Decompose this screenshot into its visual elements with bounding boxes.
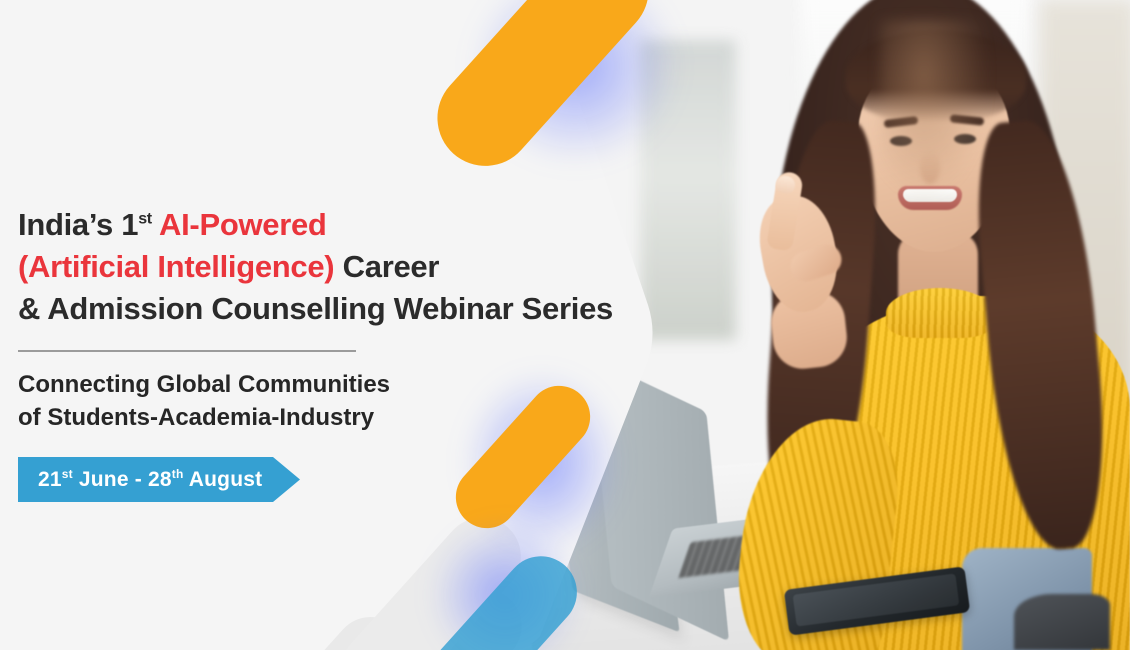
date-end-ordinal: th [172, 467, 184, 481]
date-range-label: 21st June - 28th August [18, 468, 262, 492]
subject-lap-shadow [1014, 594, 1110, 650]
date-end-day: 28 [148, 468, 172, 491]
headline-prefix: India’s 1 [18, 207, 138, 242]
subtitle-line-1: Connecting Global Communities [18, 371, 390, 398]
date-start-day: 21 [38, 468, 62, 491]
subject-hair-highlight [880, 20, 990, 200]
subtitle-line-2-prefix: of [18, 404, 47, 431]
subject-collar [886, 288, 994, 338]
headline-highlight-ai-powered: AI-Powered [159, 207, 327, 242]
status-badge: 21st June - 28th August [18, 457, 300, 502]
headline-highlight-artificial-intelligence: (Artificial Intelligence) [18, 249, 334, 284]
subtitle: Connecting Global Communities of Student… [18, 368, 390, 434]
date-start-ordinal: st [62, 467, 73, 481]
promotional-banner: India’s 1st AI-Powered (Artificial Intel… [0, 0, 1130, 650]
page-title: India’s 1st AI-Powered (Artificial Intel… [18, 204, 613, 330]
date-separator: - [135, 468, 142, 491]
headline-career: Career [343, 249, 439, 284]
subtitle-line-2-bold: Students-Academia-Industry [47, 404, 374, 431]
headline-line-3: & Admission Counselling Webinar Series [18, 291, 613, 326]
headline-line-1: India’s 1st AI-Powered [18, 207, 327, 242]
date-end-month: August [189, 468, 263, 491]
date-start-month: June [79, 468, 129, 491]
headline-ordinal-suffix: st [138, 211, 152, 228]
divider [18, 350, 356, 352]
